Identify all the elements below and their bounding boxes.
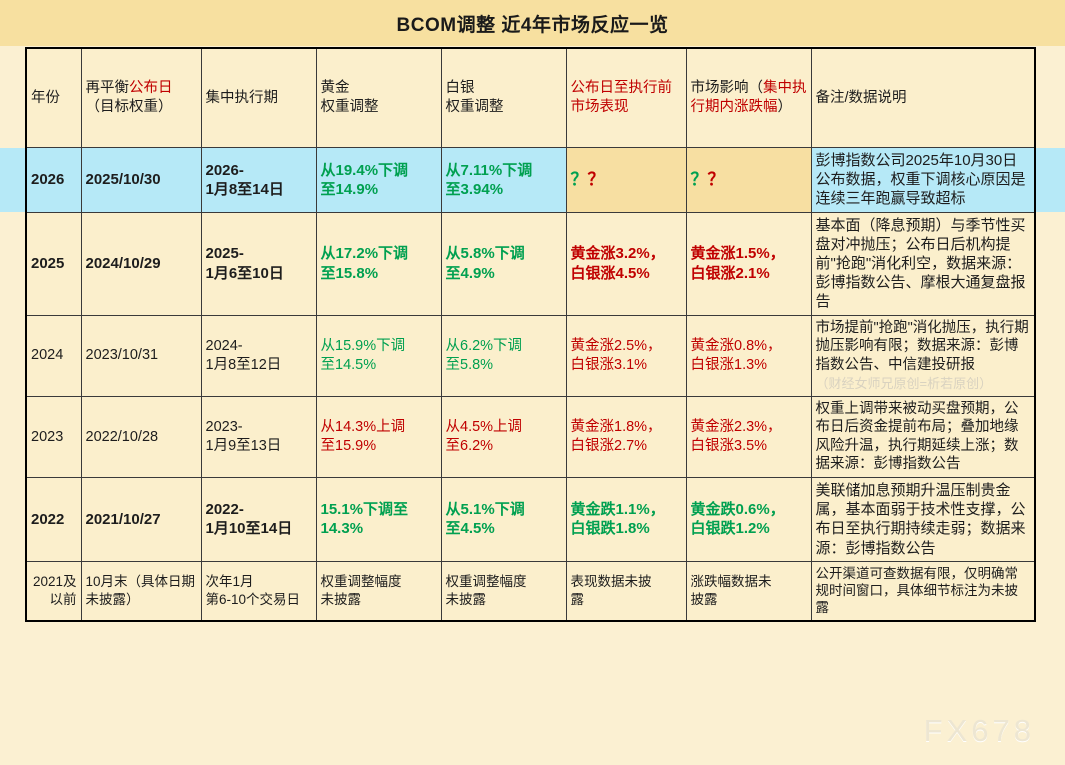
question-mark-red: ？: [588, 170, 605, 189]
question-mark-green: ？: [571, 170, 588, 189]
cell-exec-period: 2024-1月8至12日: [201, 315, 316, 396]
cell-notes: 彭博指数公司2025年10月30日公布数据，权重下调核心原因是连续三年跑赢导致超…: [811, 148, 1035, 213]
cell-gold-weight: 从17.2%下调至15.8%: [316, 212, 441, 315]
cell-line: 1月10至14日: [206, 519, 312, 538]
cell-market-impact: 黄金跌0.6%，白银跌1.2%: [686, 477, 811, 561]
cell-pre-exec-perf: 黄金涨3.2%，白银涨4.5%: [566, 212, 686, 315]
question-mark-red: ？: [708, 170, 725, 189]
col-header-notes: 备注/数据说明: [811, 48, 1035, 148]
col-header-market-impact: 市场影响（集中执行期内涨跌幅）: [686, 48, 811, 148]
cell-silver-weight: 从6.2%下调至5.8%: [441, 315, 566, 396]
header-text-segment: 再平衡: [86, 80, 130, 96]
col-header-announce-date: 再平衡公布日（目标权重）: [81, 48, 201, 148]
cell-silver-weight: 从7.11%下调至3.94%: [441, 148, 566, 213]
cell-line: 权重调整幅度: [446, 573, 562, 590]
cell-line: 白银跌1.2%: [691, 519, 807, 538]
col-header-silver-weight: 白银权重调整: [441, 48, 566, 148]
cell-line: 至15.9%: [321, 437, 437, 456]
cell-line: 次年1月: [206, 573, 312, 590]
cell-line: 白银涨2.1%: [691, 264, 807, 283]
cell-line: 2025-: [206, 244, 312, 263]
cell-silver-weight: 从5.1%下调至4.5%: [441, 477, 566, 561]
cell-line: 披露: [691, 591, 807, 608]
cell-line: 从5.1%下调: [446, 500, 562, 519]
cell-line: 表现数据未披: [571, 573, 682, 590]
cell-line: 黄金涨1.8%，: [571, 418, 682, 437]
cell-line: 至14.9%: [321, 180, 437, 199]
cell-market-impact: 黄金涨1.5%，白银涨2.1%: [686, 212, 811, 315]
cell-pre-exec-perf: 表现数据未披露: [566, 561, 686, 620]
cell-announce-date: 2021/10/27: [81, 477, 201, 561]
cell-year: 2023: [26, 396, 81, 477]
cell-line: 白银涨2.7%: [571, 437, 682, 456]
notes-text: 美联储加息预期升温压制贵金属，基本面弱于技术性支撑，公布日至执行期持续走弱；数据…: [816, 482, 1026, 557]
table-body: 20262025/10/302026-1月8至14日从19.4%下调至14.9%…: [26, 148, 1035, 621]
cell-notes: 权重上调带来被动买盘预期，公布日后资金提前布局；叠加地缘风险升温，执行期延续上涨…: [811, 396, 1035, 477]
header-text-segment: （目标权重）: [86, 99, 173, 115]
cell-notes: 公开渠道可查数据有限，仅明确常规时间窗口，具体细节标注为未披露: [811, 561, 1035, 620]
row-highlight-right-bleed: [1036, 148, 1065, 213]
header-line-primary: 白银: [446, 79, 562, 98]
cell-notes: 基本面（降息预期）与季节性买盘对冲抛压；公布日后机构提前"抢跑"消化利空，数据来…: [811, 212, 1035, 315]
cell-notes: 美联储加息预期升温压制贵金属，基本面弱于技术性支撑，公布日至执行期持续走弱；数据…: [811, 477, 1035, 561]
notes-text: 权重上调带来被动买盘预期，公布日后资金提前布局；叠加地缘风险升温，执行期延续上涨…: [816, 401, 1019, 473]
cell-exec-period: 2023-1月9至13日: [201, 396, 316, 477]
cell-line: 2023-: [206, 418, 312, 437]
table-row: 2021及以前10月末（具体日期未披露）次年1月第6-10个交易日权重调整幅度未…: [26, 561, 1035, 620]
header-text-segment: 公布日至执行前市场表现: [571, 80, 673, 115]
cell-line: 未披露: [446, 591, 562, 608]
cell-line: 第6-10个交易日: [206, 591, 312, 608]
table-row: 20242023/10/312024-1月8至12日从15.9%下调至14.5%…: [26, 315, 1035, 396]
cell-year: 2025: [26, 212, 81, 315]
col-header-exec-period: 集中执行期: [201, 48, 316, 148]
cell-gold-weight: 从19.4%下调至14.9%: [316, 148, 441, 213]
cell-year: 2021及以前: [26, 561, 81, 620]
cell-announce-date: 2025/10/30: [81, 148, 201, 213]
cell-line: 至15.8%: [321, 264, 437, 283]
notes-text: 公开渠道可查数据有限，仅明确常规时间窗口，具体细节标注为未披露: [816, 566, 1019, 616]
notes-text: 彭博指数公司2025年10月30日公布数据，权重下调核心原因是连续三年跑赢导致超…: [816, 152, 1026, 207]
cell-line: 从7.11%下调: [446, 161, 562, 180]
cell-line: 从5.8%下调: [446, 244, 562, 263]
cell-line: 黄金跌0.6%，: [691, 500, 807, 519]
cell-gold-weight: 从14.3%上调至15.9%: [316, 396, 441, 477]
col-header-year: 年份: [26, 48, 81, 148]
cell-line: 从19.4%下调: [321, 161, 437, 180]
header-text-segment: ）: [778, 99, 793, 115]
col-header-gold-weight: 黄金权重调整: [316, 48, 441, 148]
cell-line: 2026-: [206, 161, 312, 180]
cell-notes: 市场提前"抢跑"消化抛压，执行期抛压影响有限；数据来源：彭博指数公告、中信建投研…: [811, 315, 1035, 396]
table-row: 20222021/10/272022-1月10至14日15.1%下调至14.3%…: [26, 477, 1035, 561]
cell-pre-exec-perf: ？？: [566, 148, 686, 213]
cell-line: 15.1%下调至: [321, 500, 437, 519]
notes-text: 市场提前"抢跑"消化抛压，执行期抛压影响有限；数据来源：彭博指数公告、中信建投研…: [816, 320, 1029, 373]
cell-announce-date: 2024/10/29: [81, 212, 201, 315]
cell-line: 从14.3%上调: [321, 418, 437, 437]
table-row: 20252024/10/292025-1月6至10日从17.2%下调至15.8%…: [26, 212, 1035, 315]
cell-line: 从4.5%上调: [446, 418, 562, 437]
cell-year: 2026: [26, 148, 81, 213]
cell-market-impact: 涨跌幅数据未披露: [686, 561, 811, 620]
cell-line: 14.3%: [321, 519, 437, 538]
cell-announce-date: 10月末（具体日期未披露）: [81, 561, 201, 620]
notes-text: 基本面（降息预期）与季节性买盘对冲抛压；公布日后机构提前"抢跑"消化利空，数据来…: [816, 217, 1026, 311]
cell-line: 黄金涨3.2%，: [571, 244, 682, 263]
cell-line: 从6.2%下调: [446, 337, 562, 356]
cell-line: 1月8至12日: [206, 356, 312, 375]
cell-gold-weight: 权重调整幅度未披露: [316, 561, 441, 620]
page-canvas: BCOM调整 近4年市场反应一览 年份 再平衡公布日（目标权重） 集中执行期 黄…: [0, 0, 1065, 765]
header-text-segment: 公布日: [129, 80, 173, 96]
bcom-rebalance-table: 年份 再平衡公布日（目标权重） 集中执行期 黄金权重调整 白银权重调整 公布日至…: [25, 47, 1036, 622]
cell-exec-period: 2026-1月8至14日: [201, 148, 316, 213]
cell-line: 至6.2%: [446, 437, 562, 456]
page-title: BCOM调整 近4年市场反应一览: [397, 10, 669, 37]
row-highlight-left-bleed: [0, 148, 25, 213]
cell-exec-period: 次年1月第6-10个交易日: [201, 561, 316, 620]
cell-line: 白银涨1.3%: [691, 356, 807, 375]
cell-line: 至4.9%: [446, 264, 562, 283]
table-header-row: 年份 再平衡公布日（目标权重） 集中执行期 黄金权重调整 白银权重调整 公布日至…: [26, 48, 1035, 148]
cell-line: 白银涨4.5%: [571, 264, 682, 283]
cell-market-impact: 黄金涨0.8%，白银涨1.3%: [686, 315, 811, 396]
cell-pre-exec-perf: 黄金涨2.5%，白银涨3.1%: [566, 315, 686, 396]
cell-line: 2024-: [206, 337, 312, 356]
table-row: 20262025/10/302026-1月8至14日从19.4%下调至14.9%…: [26, 148, 1035, 213]
cell-line: 黄金跌1.1%，: [571, 500, 682, 519]
cell-announce-date: 2022/10/28: [81, 396, 201, 477]
cell-line: 黄金涨2.3%，: [691, 418, 807, 437]
inline-watermark: （财经女师兄原创=析若原创）: [816, 376, 1031, 393]
cell-silver-weight: 从5.8%下调至4.9%: [441, 212, 566, 315]
cell-line: 白银涨3.5%: [691, 437, 807, 456]
header-text-segment: 市场影响（: [691, 80, 764, 96]
cell-line: 白银跌1.8%: [571, 519, 682, 538]
cell-line: 黄金涨1.5%，: [691, 244, 807, 263]
cell-exec-period: 2025-1月6至10日: [201, 212, 316, 315]
table-row: 20232022/10/282023-1月9至13日从14.3%上调至15.9%…: [26, 396, 1035, 477]
cell-line: 2022-: [206, 500, 312, 519]
cell-line: 涨跌幅数据未: [691, 573, 807, 590]
cell-line: 至3.94%: [446, 180, 562, 199]
header-text-segment: 集中执行期: [206, 90, 279, 106]
cell-announce-date: 2023/10/31: [81, 315, 201, 396]
cell-gold-weight: 从15.9%下调至14.5%: [316, 315, 441, 396]
cell-line: 露: [571, 591, 682, 608]
header-line-primary: 黄金: [321, 79, 437, 98]
cell-line: 从17.2%下调: [321, 244, 437, 263]
cell-line: 至4.5%: [446, 519, 562, 538]
question-mark-green: ？: [691, 170, 708, 189]
header-text-segment: 年份: [31, 90, 60, 106]
cell-line: 1月9至13日: [206, 437, 312, 456]
cell-line: 权重调整幅度: [321, 573, 437, 590]
cell-line: 黄金涨0.8%，: [691, 337, 807, 356]
cell-line: 黄金涨2.5%，: [571, 337, 682, 356]
cell-market-impact: ？？: [686, 148, 811, 213]
cell-pre-exec-perf: 黄金涨1.8%，白银涨2.7%: [566, 396, 686, 477]
cell-line: 1月6至10日: [206, 264, 312, 283]
cell-gold-weight: 15.1%下调至14.3%: [316, 477, 441, 561]
header-text-segment: 备注/数据说明: [816, 90, 907, 106]
cell-line: 从15.9%下调: [321, 337, 437, 356]
cell-exec-period: 2022-1月10至14日: [201, 477, 316, 561]
col-header-pre-exec-perf: 公布日至执行前市场表现: [566, 48, 686, 148]
cell-market-impact: 黄金涨2.3%，白银涨3.5%: [686, 396, 811, 477]
cell-pre-exec-perf: 黄金跌1.1%，白银跌1.8%: [566, 477, 686, 561]
cell-silver-weight: 权重调整幅度未披露: [441, 561, 566, 620]
cell-year: 2022: [26, 477, 81, 561]
cell-line: 至14.5%: [321, 356, 437, 375]
header-line-secondary: 权重调整: [321, 98, 437, 117]
cell-year: 2024: [26, 315, 81, 396]
cell-line: 1月8至14日: [206, 180, 312, 199]
title-bar: BCOM调整 近4年市场反应一览: [0, 0, 1065, 46]
cell-line: 未披露: [321, 591, 437, 608]
cell-line: 至5.8%: [446, 356, 562, 375]
cell-line: 白银涨3.1%: [571, 356, 682, 375]
cell-silver-weight: 从4.5%上调至6.2%: [441, 396, 566, 477]
header-line-secondary: 权重调整: [446, 98, 562, 117]
